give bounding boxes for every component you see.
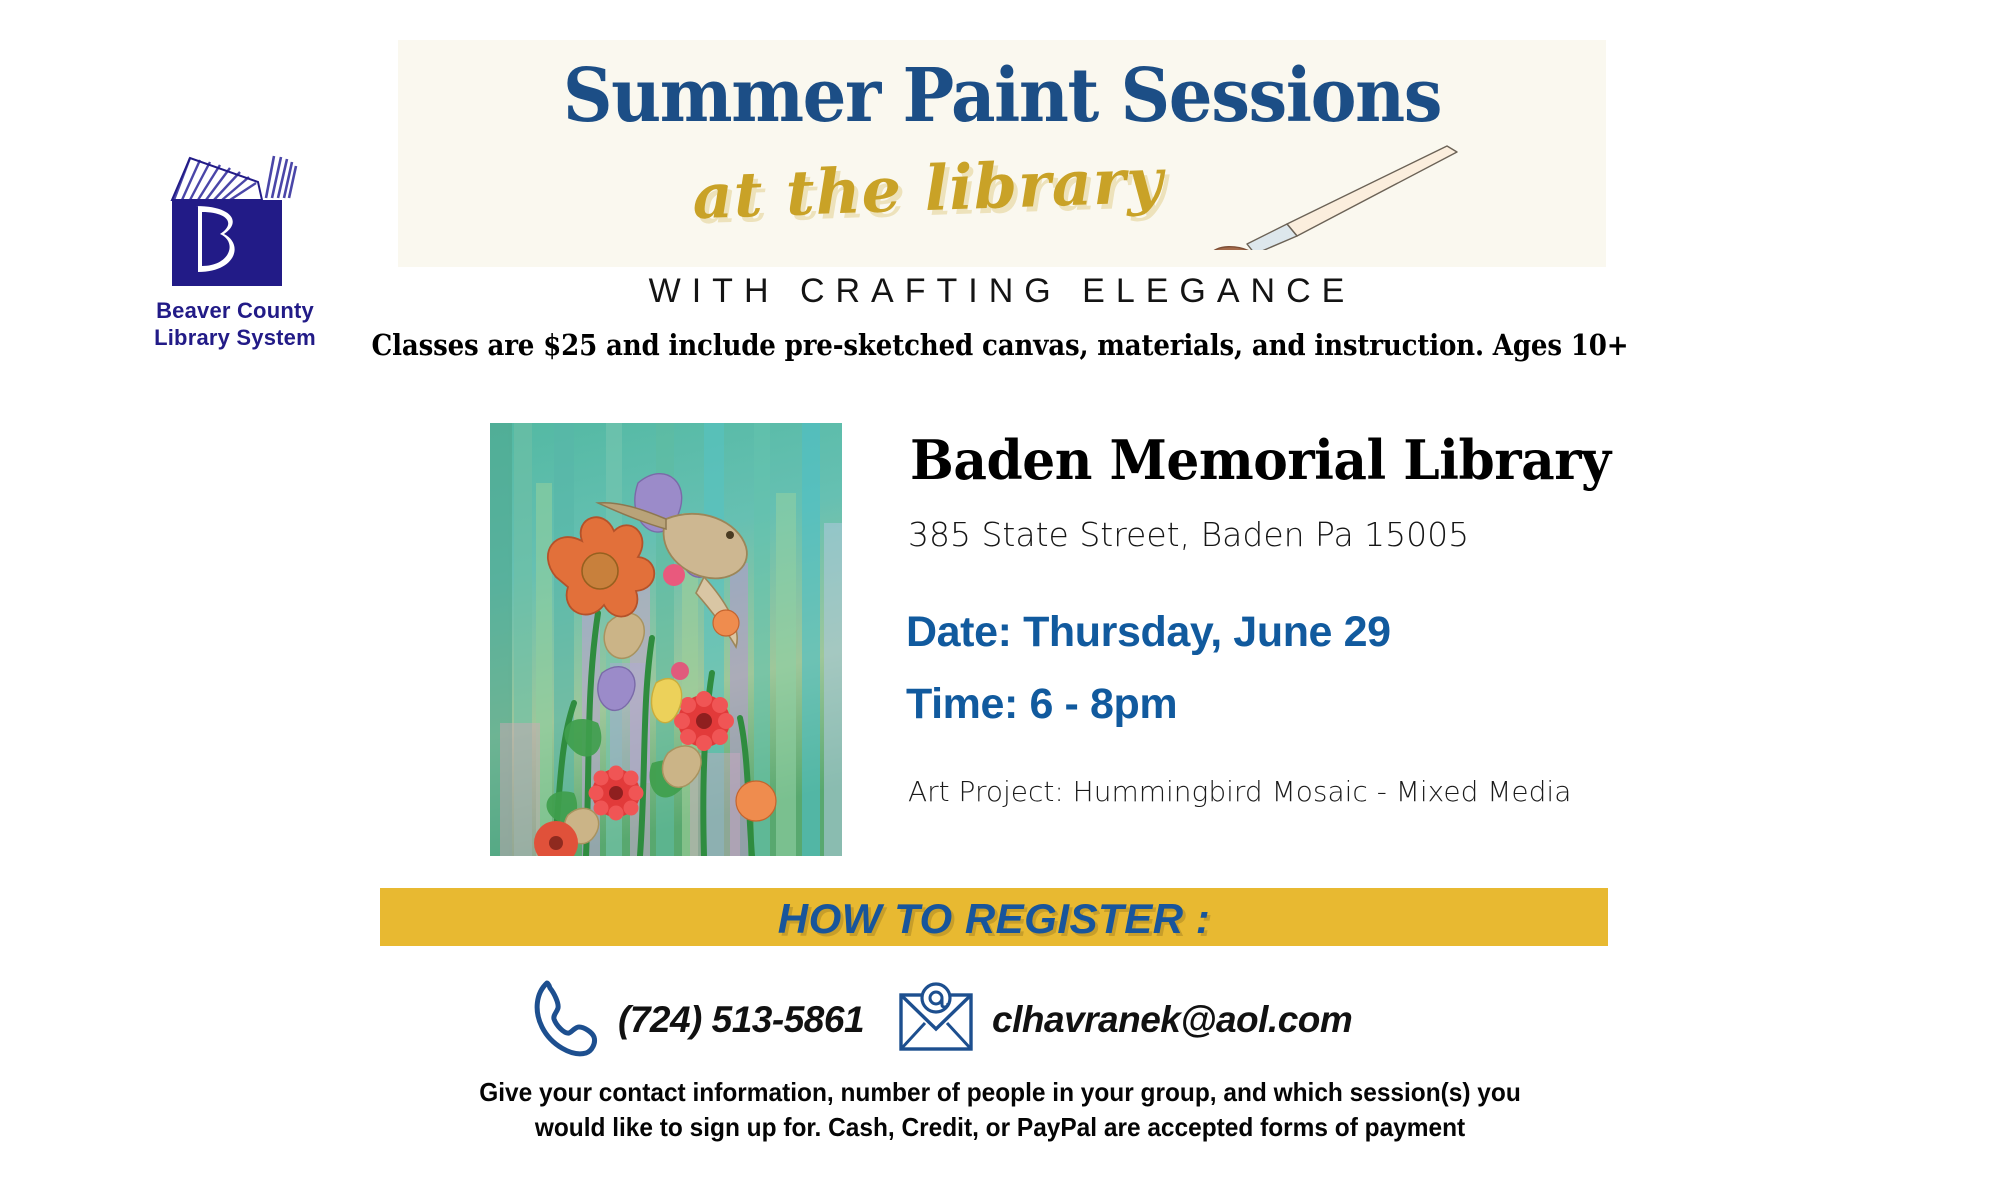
how-to-register-heading: HOW TO REGISTER :: [380, 895, 1608, 943]
page-title: Summer Paint Sessions: [440, 58, 1563, 136]
logo-line-1: Beaver County: [110, 298, 360, 325]
phone-number: (724) 513-5861: [618, 999, 864, 1041]
beaver-county-library-system-logo: [150, 148, 310, 298]
art-project-description: Art Project: Hummingbird Mosaic - Mixed …: [908, 775, 1571, 808]
phone-icon: [530, 977, 604, 1064]
event-time: Time: 6 - 8pm: [906, 680, 1177, 729]
envelope-at-icon: [894, 981, 978, 1060]
instructions-line-1: Give your contact information, number of…: [370, 1075, 1630, 1110]
instructions-line-2: would like to sign up for. Cash, Credit,…: [370, 1110, 1630, 1145]
event-date: Date: Thursday, June 29: [906, 608, 1391, 657]
email-address: clhavranek@aol.com: [992, 999, 1352, 1041]
artwork-image: [490, 423, 842, 856]
phone-contact[interactable]: (724) 513-5861: [530, 977, 864, 1064]
registration-instructions: Give your contact information, number of…: [370, 1075, 1630, 1145]
venue-name: Baden Memorial Library: [910, 428, 1611, 492]
pricing-info: Classes are $25 and include pre-sketched…: [370, 328, 1630, 362]
flyer-canvas: Summer Paint Sessions at the library WIT…: [0, 0, 2000, 1200]
logo-wordmark: Beaver County Library System: [110, 298, 360, 352]
contact-row: (724) 513-5861 clhavranek@aol.com: [530, 975, 1490, 1065]
email-contact[interactable]: clhavranek@aol.com: [894, 981, 1352, 1060]
venue-address: 385 State Street, Baden Pa 15005: [908, 515, 1469, 554]
logo-line-2: Library System: [110, 325, 360, 352]
hero-tagline: WITH CRAFTING ELEGANCE: [398, 272, 1606, 311]
